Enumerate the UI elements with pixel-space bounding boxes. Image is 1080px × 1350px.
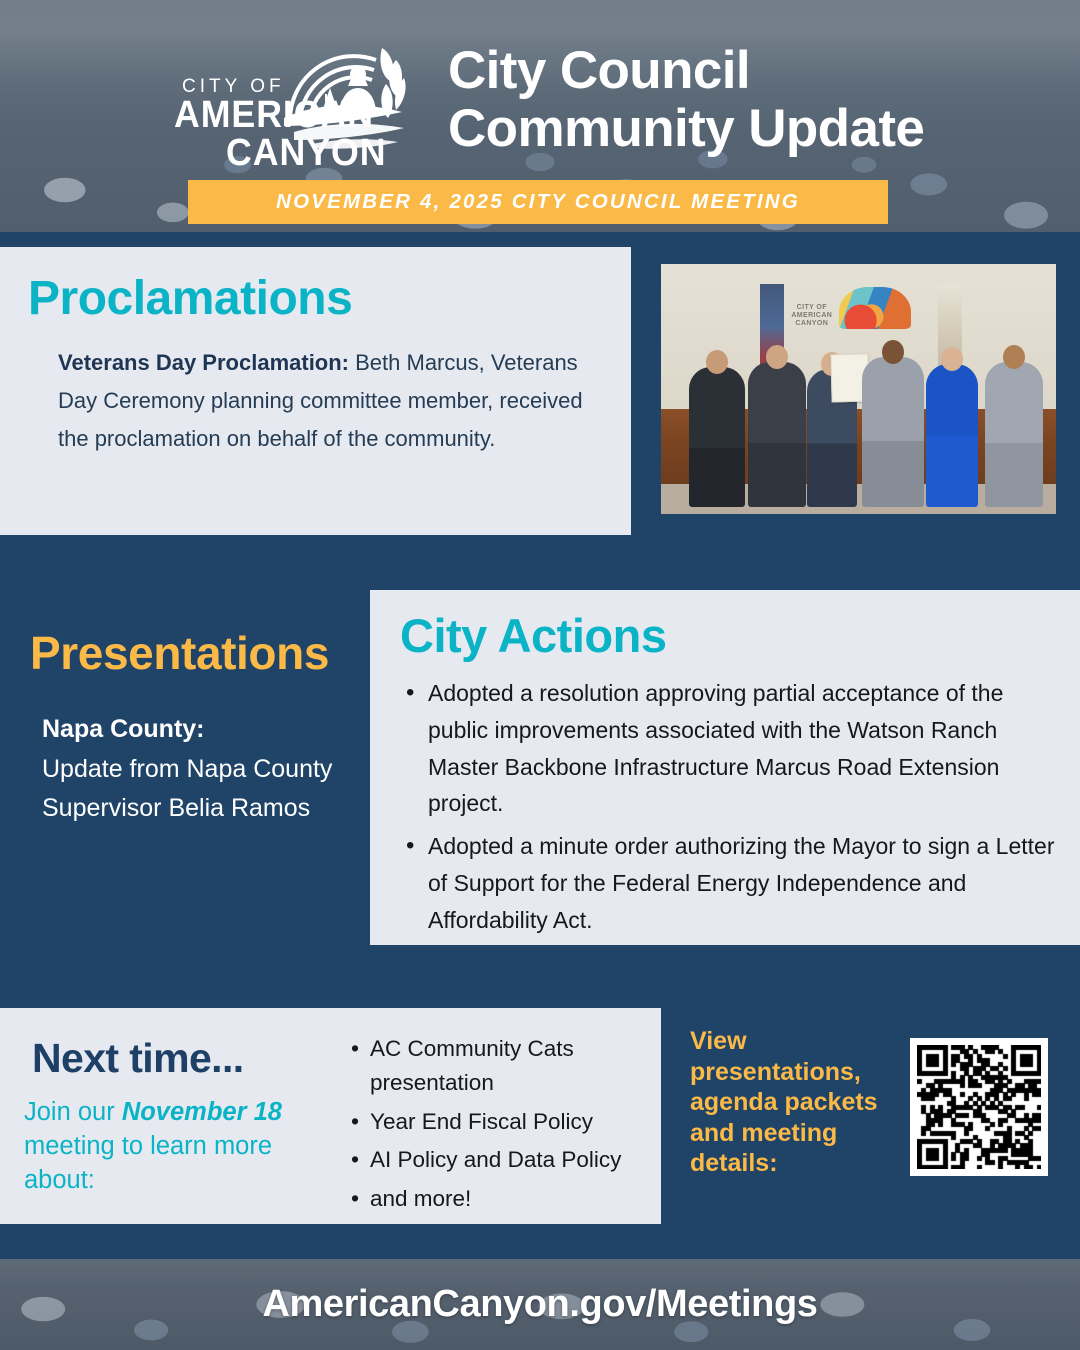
logo-line-american: AMERICAN: [174, 96, 374, 134]
list-item: and more!: [345, 1182, 650, 1216]
meetings-qr-code[interactable]: [910, 1038, 1048, 1176]
list-item: AC Community Cats presentation: [345, 1032, 650, 1100]
photo-wall-logo-text: CITY OFAMERICANCANYON: [791, 304, 832, 328]
proclamations-lead: Veterans Day Proclamation:: [58, 350, 349, 375]
city-actions-heading: City Actions: [400, 608, 666, 663]
proclamations-section: Proclamations Veterans Day Proclamation:…: [0, 247, 631, 535]
meeting-date-banner: NOVEMBER 4, 2025 CITY COUNCIL MEETING: [188, 180, 888, 224]
presentations-text: Napa County: Update from Napa County Sup…: [42, 710, 342, 829]
next-time-subtext: Join our November 18 meeting to learn mo…: [24, 1096, 334, 1198]
page-title-line-2: Community Update: [448, 100, 924, 158]
photo-wall-city-logo-icon: [839, 287, 911, 329]
presentations-lead: Napa County:: [42, 715, 205, 743]
photo-person-5: [926, 364, 978, 507]
next-time-section: Next time... Join our November 18 meetin…: [0, 1008, 661, 1224]
page-title-line-1: City Council: [448, 42, 924, 100]
photo-person-4: [862, 357, 924, 507]
presentations-detail: Update from Napa County Supervisor Belia…: [42, 755, 332, 823]
meeting-date-text: NOVEMBER 4, 2025 CITY COUNCIL MEETING: [276, 190, 800, 214]
list-item: Adopted a resolution approving partial a…: [398, 675, 1058, 822]
list-item: AI Policy and Data Policy: [345, 1143, 650, 1177]
photo-person-6: [985, 362, 1043, 507]
qr-code-icon: [917, 1045, 1041, 1169]
proclamations-heading: Proclamations: [28, 271, 352, 326]
footer-banner: AmericanCanyon.gov/Meetings: [0, 1240, 1080, 1350]
city-logo: CITY OF AMERICAN CANYON: [170, 38, 440, 156]
next-time-sub-pre: Join our: [24, 1098, 122, 1126]
next-time-topics-list: AC Community Cats presentation Year End …: [345, 1032, 650, 1221]
city-actions-list: Adopted a resolution approving partial a…: [398, 675, 1058, 945]
list-item: Adopted a minute order authorizing the M…: [398, 828, 1058, 938]
logo-line-canyon: CANYON: [226, 134, 386, 172]
city-actions-section: City Actions Adopted a resolution approv…: [370, 590, 1080, 945]
footer-website-url[interactable]: AmericanCanyon.gov/Meetings: [0, 1259, 1080, 1350]
photo-person-2: [748, 362, 806, 507]
presentations-heading: Presentations: [30, 626, 329, 680]
list-item: Year End Fiscal Policy: [345, 1105, 650, 1139]
photo-person-1: [689, 367, 745, 507]
header-banner: CITY OF AMERICAN CANYON City Council Com…: [0, 0, 1080, 232]
proclamations-text: Veterans Day Proclamation: Beth Marcus, …: [58, 344, 593, 457]
page-title: City Council Community Update: [448, 42, 924, 158]
next-time-heading: Next time...: [32, 1035, 244, 1082]
qr-instruction-label: View presentations, agenda packets and m…: [690, 1026, 890, 1179]
proclamation-photo: CITY OFAMERICANCANYON: [661, 264, 1056, 514]
next-time-sub-post: meeting to learn more about:: [24, 1132, 272, 1194]
next-time-date: November 18: [122, 1098, 282, 1126]
